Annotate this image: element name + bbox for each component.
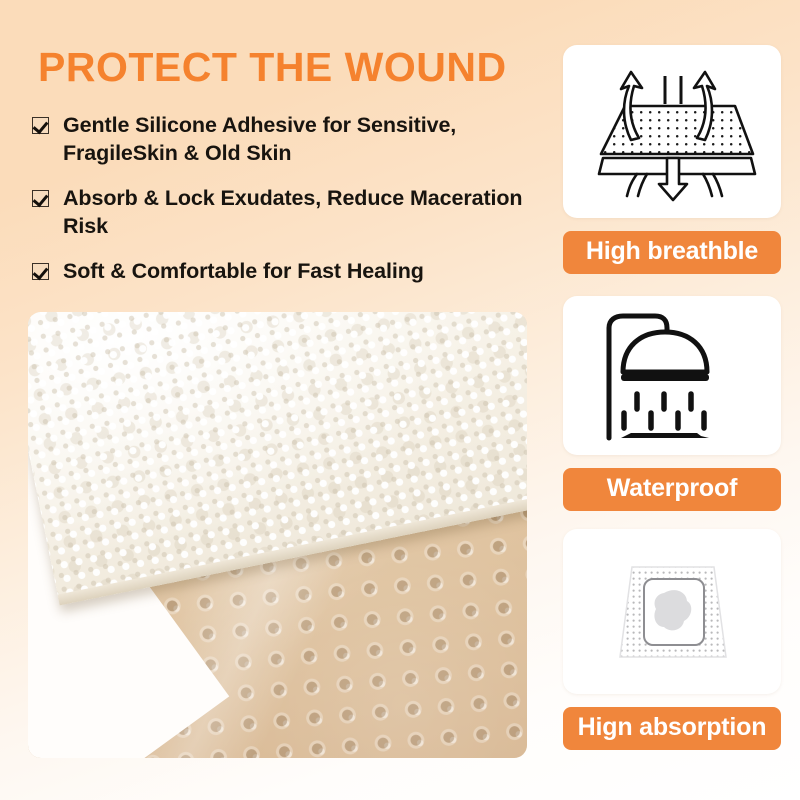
breathable-pad-icon	[585, 62, 759, 202]
left-content-column: PROTECT THE WOUND Gentle Silicone Adhesi…	[0, 0, 556, 800]
list-item: Absorb & Lock Exudates, Reduce Maceratio…	[32, 185, 548, 241]
product-infographic: PROTECT THE WOUND Gentle Silicone Adhesi…	[0, 0, 800, 800]
feature-icon-card	[563, 45, 781, 218]
feature-label: Hign absorption	[563, 707, 781, 750]
product-photo	[28, 312, 527, 758]
benefit-text: Gentle Silicone Adhesive for Sensitive, …	[63, 112, 548, 168]
list-item: Gentle Silicone Adhesive for Sensitive, …	[32, 112, 548, 168]
page-title: PROTECT THE WOUND	[38, 44, 507, 91]
checkbox-checked-icon	[32, 117, 49, 134]
absorbent-dressing-icon	[602, 547, 742, 677]
benefit-text: Soft & Comfortable for Fast Healing	[63, 258, 424, 286]
shower-head-icon	[597, 308, 747, 443]
feature-label: High breathble	[563, 231, 781, 274]
feature-icon-card	[563, 296, 781, 455]
feature-waterproof: Waterproof	[563, 296, 781, 511]
feature-high-breathble: High breathble	[563, 45, 781, 274]
checkbox-checked-icon	[32, 190, 49, 207]
feature-label: Waterproof	[563, 468, 781, 511]
feature-icon-card	[563, 529, 781, 694]
feature-hign-absorption: Hign absorption	[563, 529, 781, 750]
checkbox-checked-icon	[32, 263, 49, 280]
benefits-list: Gentle Silicone Adhesive for Sensitive, …	[32, 112, 548, 303]
benefit-text: Absorb & Lock Exudates, Reduce Maceratio…	[63, 185, 548, 241]
list-item: Soft & Comfortable for Fast Healing	[32, 258, 548, 286]
